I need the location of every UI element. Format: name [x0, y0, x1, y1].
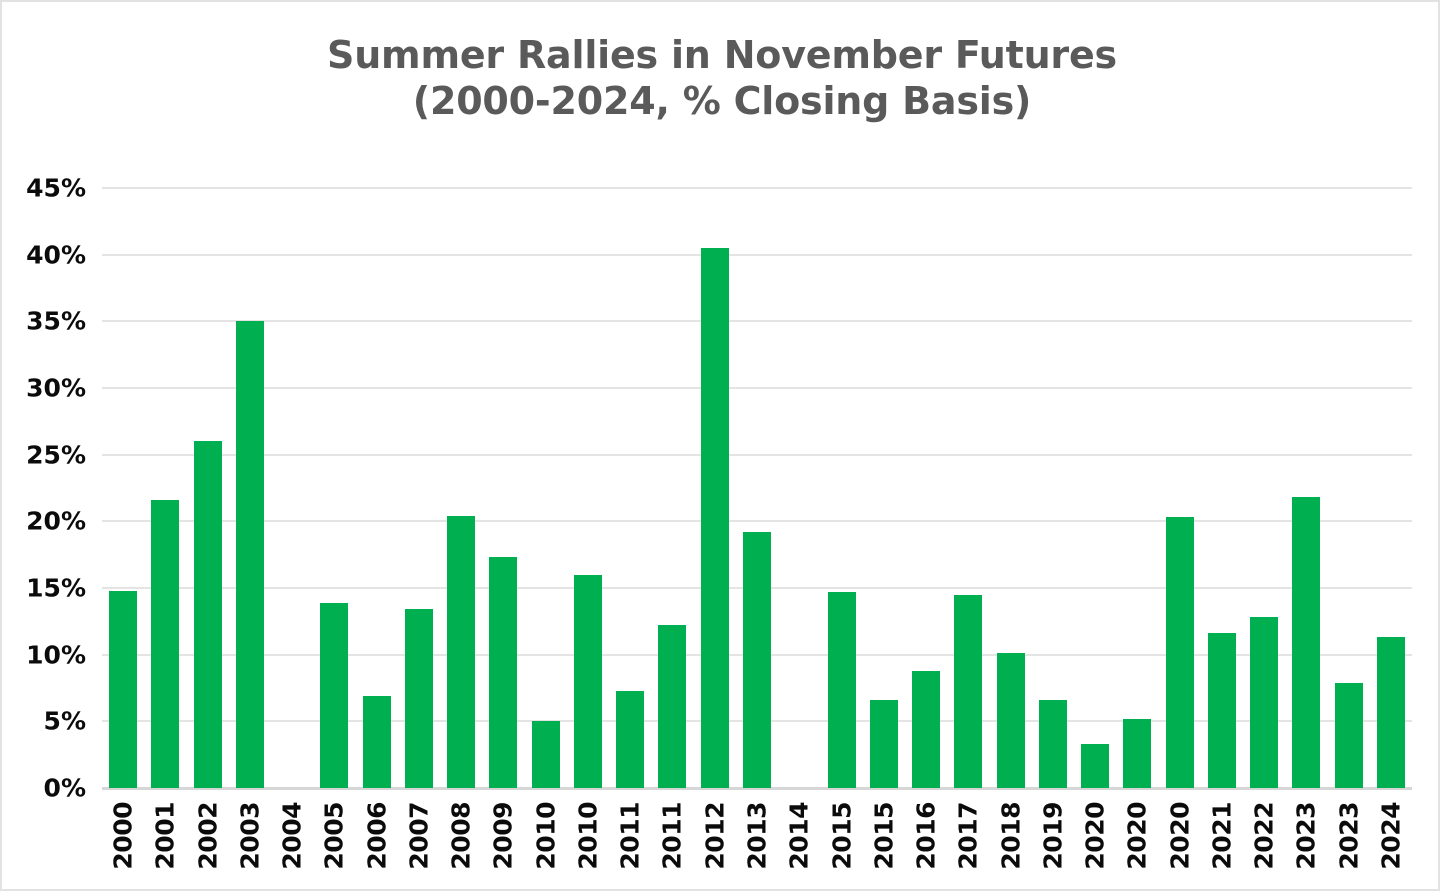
bar[interactable]	[1292, 497, 1320, 788]
bar[interactable]	[997, 653, 1025, 788]
x-axis-tick: 2012	[694, 798, 736, 888]
x-axis-tick-label: 2023	[1334, 802, 1363, 870]
x-axis-tick-label: 2010	[531, 802, 560, 870]
x-axis-tick-label: 2020	[1165, 802, 1194, 870]
gridline	[102, 387, 1412, 389]
bar[interactable]	[870, 700, 898, 788]
x-axis-tick: 2021	[1201, 798, 1243, 888]
bar[interactable]	[1123, 719, 1151, 788]
x-axis-tick-label: 2015	[869, 802, 898, 870]
x-axis-tick: 2006	[356, 798, 398, 888]
x-axis-tick-label: 2001	[151, 802, 180, 870]
gridline	[102, 454, 1412, 456]
bar[interactable]	[320, 603, 348, 788]
x-axis-tick: 2011	[609, 798, 651, 888]
x-axis-tick-label: 2003	[235, 802, 264, 870]
x-axis-tick-label: 2002	[193, 802, 222, 870]
x-axis-tick: 2022	[1243, 798, 1285, 888]
x-axis-tick: 2017	[947, 798, 989, 888]
x-axis-tick-label: 2015	[827, 802, 856, 870]
x-axis-tick: 2000	[102, 798, 144, 888]
y-axis-tick-label: 5%	[0, 707, 86, 736]
x-axis-tick: 2008	[440, 798, 482, 888]
y-axis-tick-label: 15%	[0, 574, 86, 603]
gridline	[102, 254, 1412, 256]
x-axis-tick-label: 2024	[1376, 802, 1405, 870]
x-axis-tick: 2019	[1032, 798, 1074, 888]
bar[interactable]	[532, 721, 560, 788]
x-axis-tick-label: 2022	[1250, 802, 1279, 870]
bar[interactable]	[1335, 683, 1363, 788]
x-axis-tick-label: 2017	[954, 802, 983, 870]
x-axis-tick: 2011	[651, 798, 693, 888]
plot-area	[102, 188, 1412, 788]
chart-title: Summer Rallies in November Futures (2000…	[2, 32, 1440, 125]
x-axis-tick-label: 2019	[1038, 802, 1067, 870]
x-axis-tick: 2024	[1370, 798, 1412, 888]
bar[interactable]	[236, 321, 264, 788]
x-axis-tick: 2010	[525, 798, 567, 888]
bar[interactable]	[405, 609, 433, 788]
bar[interactable]	[616, 691, 644, 788]
x-axis-tick-label: 2011	[616, 802, 645, 870]
x-axis-tick: 2023	[1327, 798, 1369, 888]
x-axis-tick-label: 2006	[362, 802, 391, 870]
bar[interactable]	[1377, 637, 1405, 788]
x-axis-tick: 2016	[905, 798, 947, 888]
bar[interactable]	[701, 248, 729, 788]
x-axis-tick: 2015	[863, 798, 905, 888]
bar[interactable]	[1250, 617, 1278, 788]
bar[interactable]	[574, 575, 602, 788]
bar[interactable]	[194, 441, 222, 788]
y-axis-tick-label: 35%	[0, 307, 86, 336]
gridline	[102, 520, 1412, 522]
bar[interactable]	[954, 595, 982, 788]
chart-container: Summer Rallies in November Futures (2000…	[0, 0, 1440, 891]
x-axis-tick-label: 2004	[278, 802, 307, 870]
bar[interactable]	[447, 516, 475, 788]
y-axis-tick-label: 30%	[0, 374, 86, 403]
x-axis-tick-label: 2012	[700, 802, 729, 870]
x-axis-tick-label: 2023	[1292, 802, 1321, 870]
bar[interactable]	[363, 696, 391, 788]
x-axis-tick: 2015	[820, 798, 862, 888]
bar[interactable]	[1081, 744, 1109, 788]
x-axis-tick: 2020	[1074, 798, 1116, 888]
x-axis-tick-label: 2016	[912, 802, 941, 870]
x-axis-tick: 2014	[778, 798, 820, 888]
bar[interactable]	[828, 592, 856, 788]
x-axis-tick-label: 2018	[996, 802, 1025, 870]
y-axis-tick-label: 10%	[0, 640, 86, 669]
x-axis-tick-label: 2008	[447, 802, 476, 870]
y-axis-tick-label: 40%	[0, 240, 86, 269]
y-axis-tick-label: 25%	[0, 440, 86, 469]
x-axis-tick-label: 2007	[404, 802, 433, 870]
x-axis-tick: 2002	[187, 798, 229, 888]
x-axis-tick: 2010	[567, 798, 609, 888]
bar[interactable]	[743, 532, 771, 788]
x-axis-tick: 2004	[271, 798, 313, 888]
x-axis-tick-label: 2020	[1123, 802, 1152, 870]
bar[interactable]	[912, 671, 940, 788]
bar[interactable]	[1166, 517, 1194, 788]
x-axis-tick: 2007	[398, 798, 440, 888]
x-axis-tick: 2013	[736, 798, 778, 888]
x-axis-tick-label: 2014	[785, 802, 814, 870]
bar[interactable]	[151, 500, 179, 788]
x-axis-tick-label: 2013	[742, 802, 771, 870]
chart-title-line-1: Summer Rallies in November Futures	[2, 32, 1440, 78]
bar[interactable]	[1039, 700, 1067, 788]
x-axis-tick: 2018	[989, 798, 1031, 888]
y-axis-tick-label: 0%	[0, 774, 86, 803]
x-axis-tick-label: 2021	[1207, 802, 1236, 870]
chart-title-line-2: (2000-2024, % Closing Basis)	[2, 78, 1440, 124]
bar[interactable]	[658, 625, 686, 788]
x-axis-tick-label: 2009	[489, 802, 518, 870]
x-axis-tick-label: 2020	[1081, 802, 1110, 870]
x-axis-tick-label: 2011	[658, 802, 687, 870]
x-axis-tick: 2001	[144, 798, 186, 888]
x-axis-tick: 2009	[482, 798, 524, 888]
x-axis-tick: 2005	[313, 798, 355, 888]
gridline	[102, 320, 1412, 322]
bar[interactable]	[1208, 633, 1236, 788]
bar[interactable]	[109, 591, 137, 788]
x-axis-tick-label: 2005	[320, 802, 349, 870]
x-axis-tick: 2020	[1158, 798, 1200, 888]
x-axis-tick: 2003	[229, 798, 271, 888]
y-axis-tick-label: 20%	[0, 507, 86, 536]
bar[interactable]	[489, 557, 517, 788]
x-axis-tick: 2020	[1116, 798, 1158, 888]
y-axis-tick-label: 45%	[0, 174, 86, 203]
x-axis-tick-label: 2010	[573, 802, 602, 870]
x-axis-tick: 2023	[1285, 798, 1327, 888]
gridline	[102, 187, 1412, 189]
x-axis-tick-label: 2000	[109, 802, 138, 870]
